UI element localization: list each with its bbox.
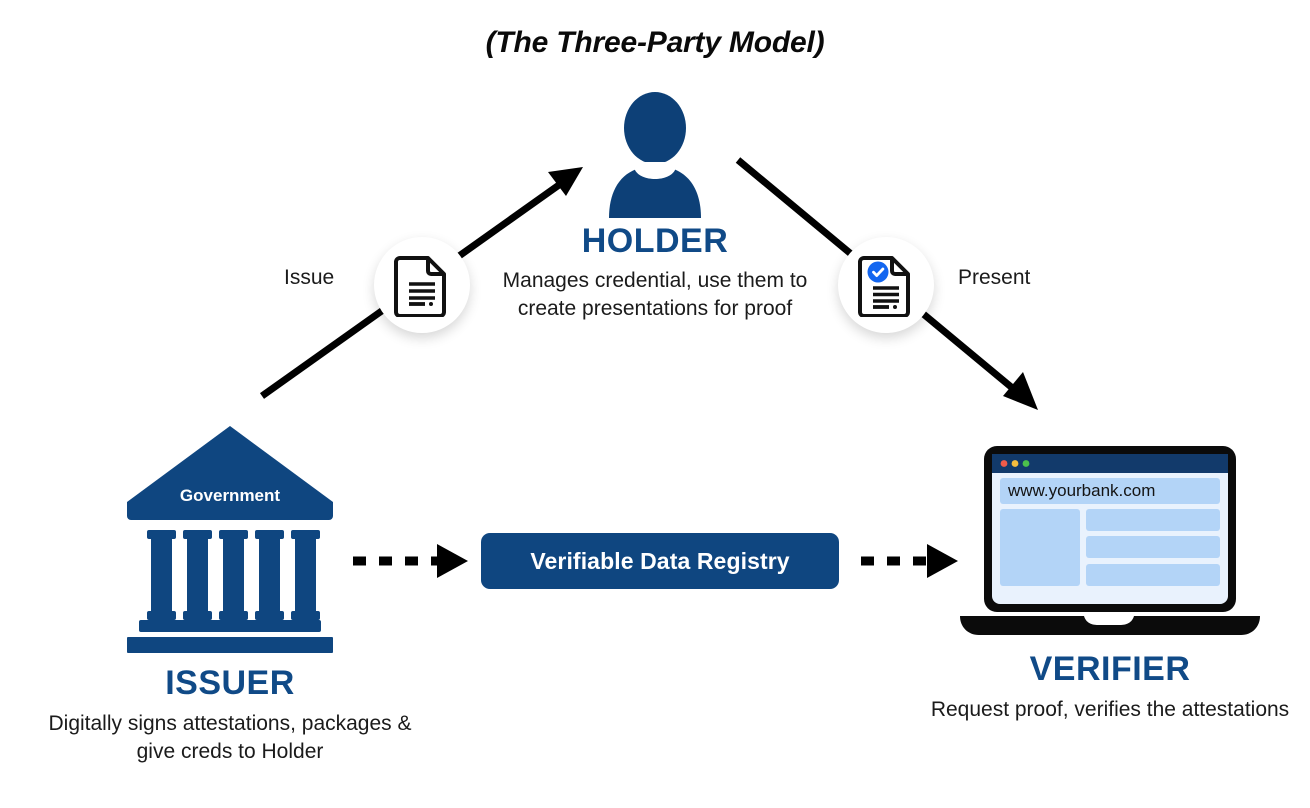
holder-group: HOLDER Manages credential, use them to c… — [455, 92, 855, 322]
government-building-icon: Government — [119, 424, 341, 632]
building-base — [119, 620, 341, 654]
diagram-canvas: (The Three-Party Model) HOLDE — [0, 0, 1310, 808]
verifier-title: VERIFIER — [928, 650, 1292, 689]
holder-title: HOLDER — [455, 222, 855, 261]
issuer-group: Government — [28, 424, 432, 766]
laptop-base — [960, 616, 1260, 635]
browser-content-blocks — [1000, 509, 1220, 586]
present-flow-label: Present — [958, 266, 1030, 290]
issuer-title: ISSUER — [28, 664, 432, 703]
page-title: (The Three-Party Model) — [0, 26, 1310, 60]
verifier-description: Request proof, verifies the attestations — [928, 696, 1292, 724]
issuer-description: Digitally signs attestations, packages &… — [28, 710, 432, 766]
person-icon — [599, 92, 711, 218]
verified-document-icon — [858, 253, 914, 317]
holder-description: Manages credential, use them to create p… — [455, 267, 855, 322]
issue-flow-label: Issue — [284, 266, 334, 290]
registry-label: Verifiable Data Registry — [530, 548, 789, 575]
document-icon — [394, 253, 450, 317]
building-columns — [147, 530, 320, 620]
verifier-group: www.yourbank.com VERIFIER Request proof,… — [928, 444, 1292, 724]
building-label: Government — [180, 486, 280, 505]
verifiable-data-registry-box[interactable]: Verifiable Data Registry — [481, 533, 839, 589]
laptop-icon: www.yourbank.com — [956, 444, 1264, 636]
issue-credential-badge[interactable] — [374, 237, 470, 333]
browser-traffic-lights — [1001, 460, 1030, 467]
browser-url-text: www.yourbank.com — [1007, 481, 1155, 500]
present-credential-badge[interactable] — [838, 237, 934, 333]
